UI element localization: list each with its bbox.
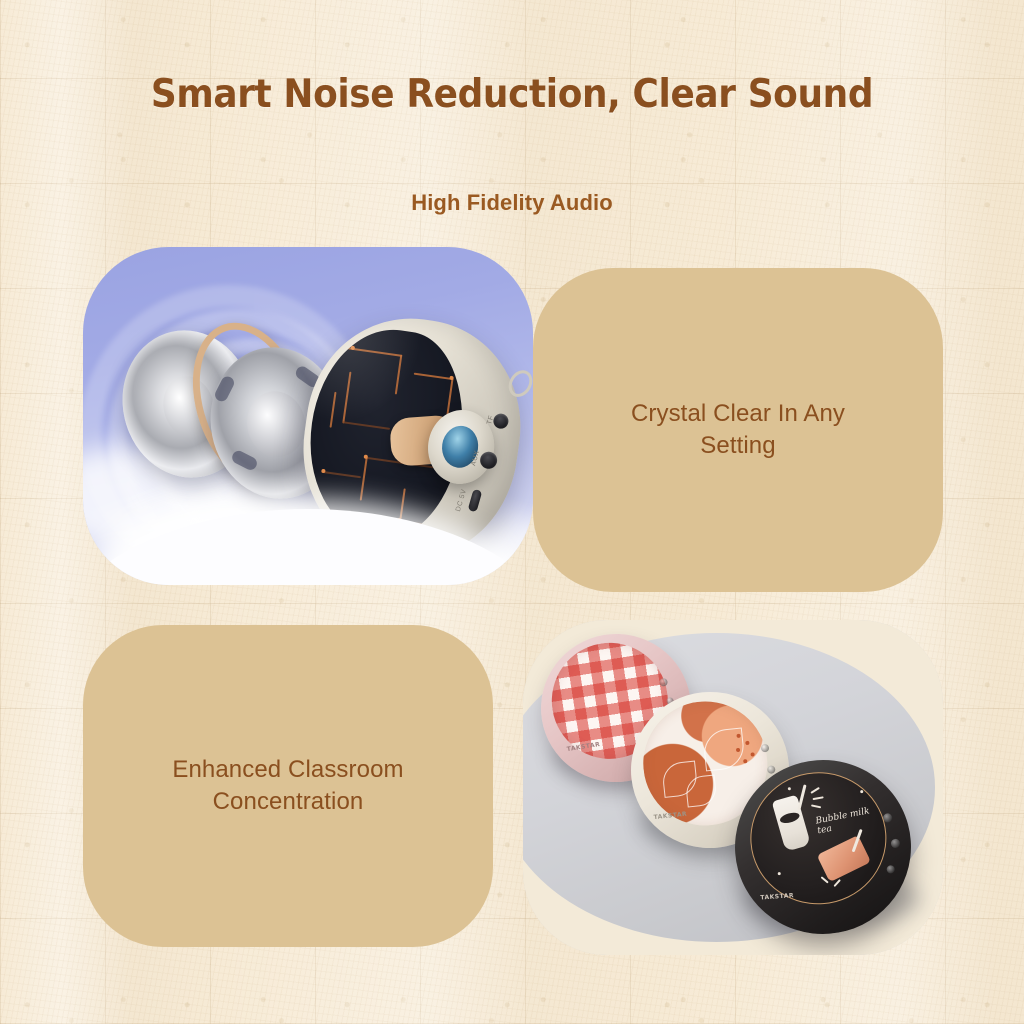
iced-tea-cup-icon (817, 835, 871, 882)
face-gloss (298, 320, 427, 432)
classroom-copy: Enhanced Classroom Concentration (126, 754, 449, 817)
color-lineup-photo-card: TAKSTAR TAKSTAR (523, 620, 943, 955)
straw-icon (797, 784, 806, 810)
basket-slot (230, 449, 259, 472)
classroom-card: Enhanced Classroom Concentration (83, 625, 493, 947)
crystal-clear-line1: Crystal Clear In Any (631, 400, 845, 427)
crystal-clear-line2: Setting (700, 432, 775, 459)
aux-port-icon (478, 450, 499, 471)
port-label-dc5v: DC 5V (455, 488, 468, 512)
page-title: Smart Noise Reduction, Clear Sound (41, 72, 983, 117)
cup-lid (779, 811, 801, 825)
speaker-variant-black-bubble-tea: Bubble milk tea TAKSTAR (729, 754, 917, 940)
milk-tea-cup-icon (772, 795, 811, 852)
classroom-line2: Concentration (213, 788, 364, 815)
page-subtitle: High Fidelity Audio (0, 190, 1024, 216)
dc-port-icon (468, 489, 483, 513)
tf-port-icon (492, 412, 511, 431)
crystal-clear-copy: Crystal Clear In Any Setting (585, 398, 891, 461)
crystal-clear-card: Crystal Clear In Any Setting (533, 268, 943, 592)
classroom-line1: Enhanced Classroom (172, 756, 403, 783)
bubble-tea-script-text: Bubble milk tea (815, 805, 886, 837)
driver-hub (241, 386, 311, 462)
exploded-speaker-photo-card: TAKSTAR 得胜 TF AUX DC 5V (83, 247, 533, 585)
